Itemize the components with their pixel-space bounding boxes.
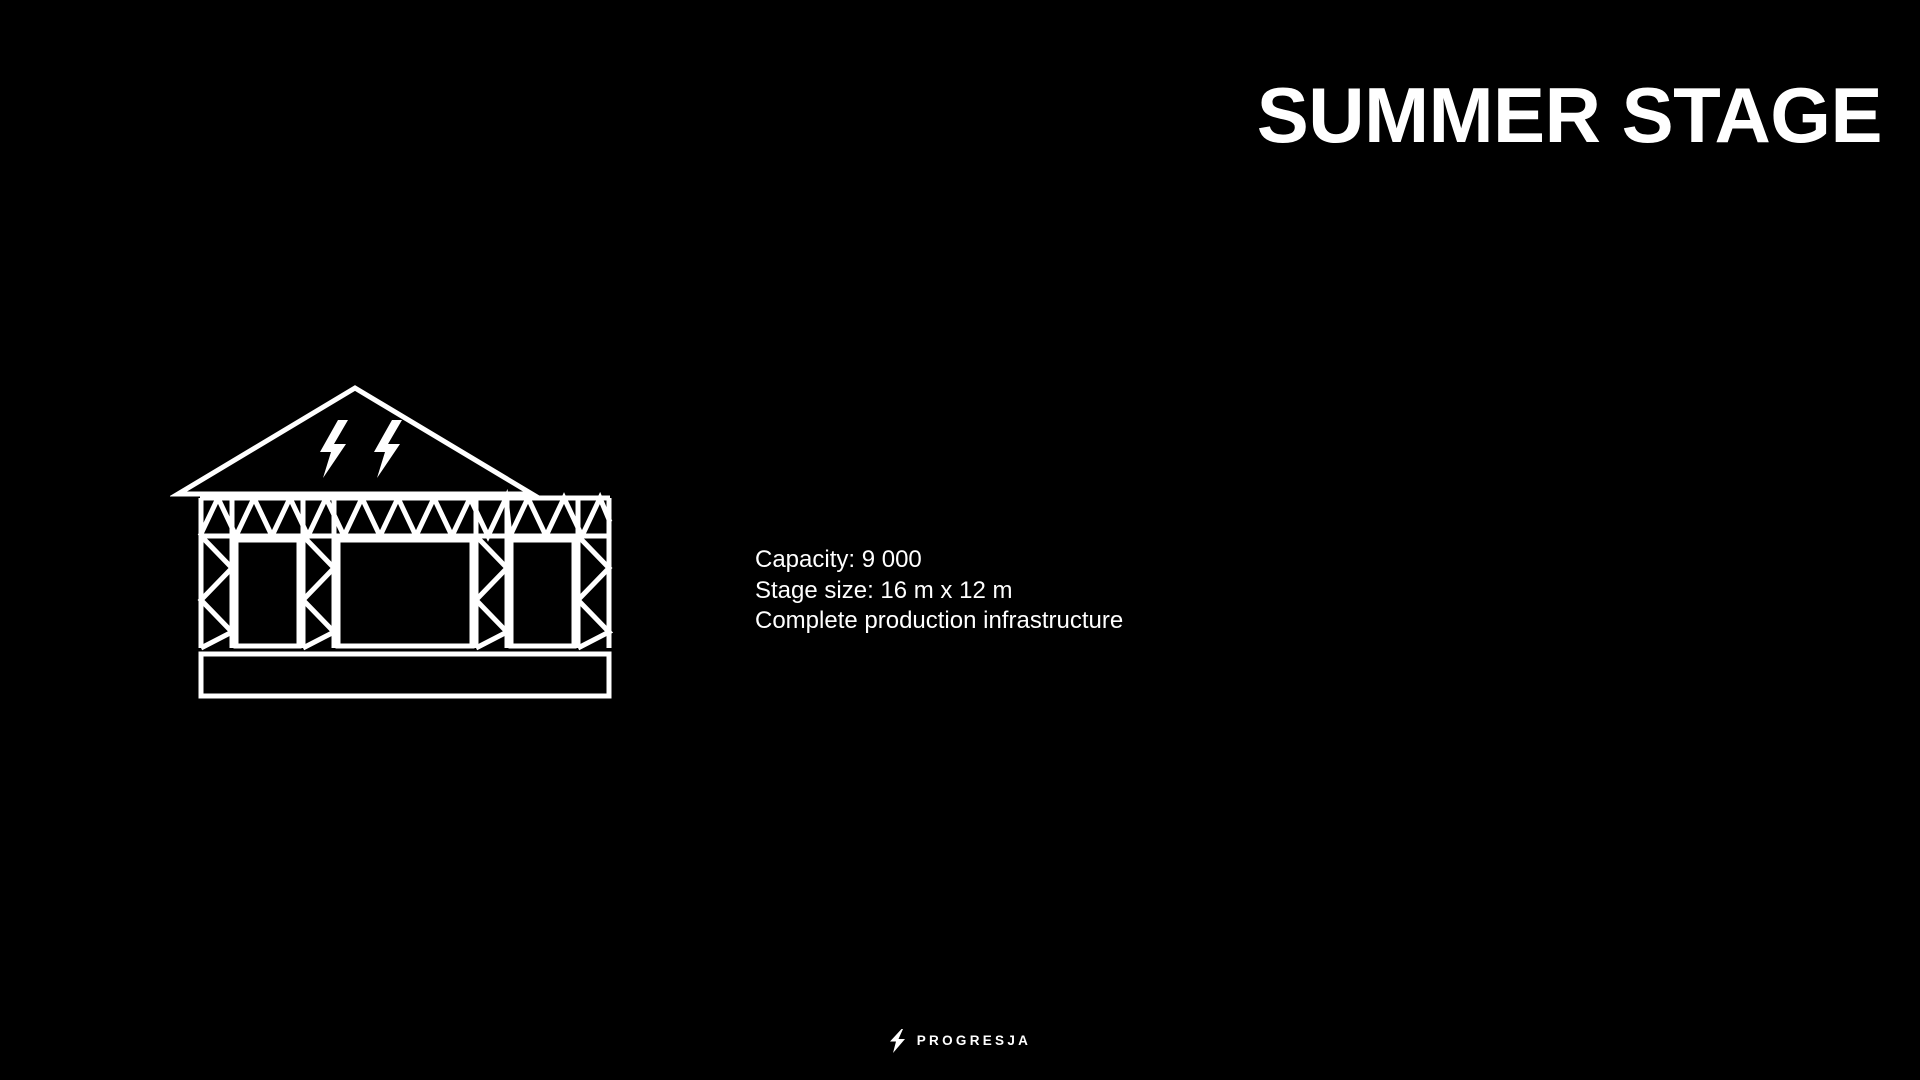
stage-opening-frames [236, 540, 574, 646]
lightning-bolt-icon [889, 1029, 906, 1053]
stage-illustration-svg [170, 382, 660, 702]
stage-specs: Capacity: 9 000 Stage size: 16 m x 12 m … [755, 545, 1315, 637]
truss-column-4 [578, 498, 609, 648]
spec-capacity: Capacity: 9 000 [755, 545, 1315, 576]
horizontal-truss [200, 498, 510, 536]
lightning-bolt-icon-left [320, 420, 348, 478]
stage-roof-icon [178, 388, 532, 494]
footer-brand-logo: PROGRESJA [0, 1029, 1920, 1053]
lightning-bolt-icon-right [374, 420, 402, 478]
spec-infrastructure: Complete production infrastructure [755, 606, 1315, 637]
brand-wordmark: PROGRESJA [917, 1034, 1031, 1048]
stage-illustration [170, 382, 660, 702]
slide-root: SUMMER STAGE [0, 0, 1920, 1080]
horizontal-truss-right [510, 498, 610, 536]
page-title: SUMMER STAGE [682, 72, 1882, 158]
truss-column-2 [303, 498, 334, 648]
spec-stage-size: Stage size: 16 m x 12 m [755, 576, 1315, 607]
stage-base-platform [201, 654, 609, 696]
